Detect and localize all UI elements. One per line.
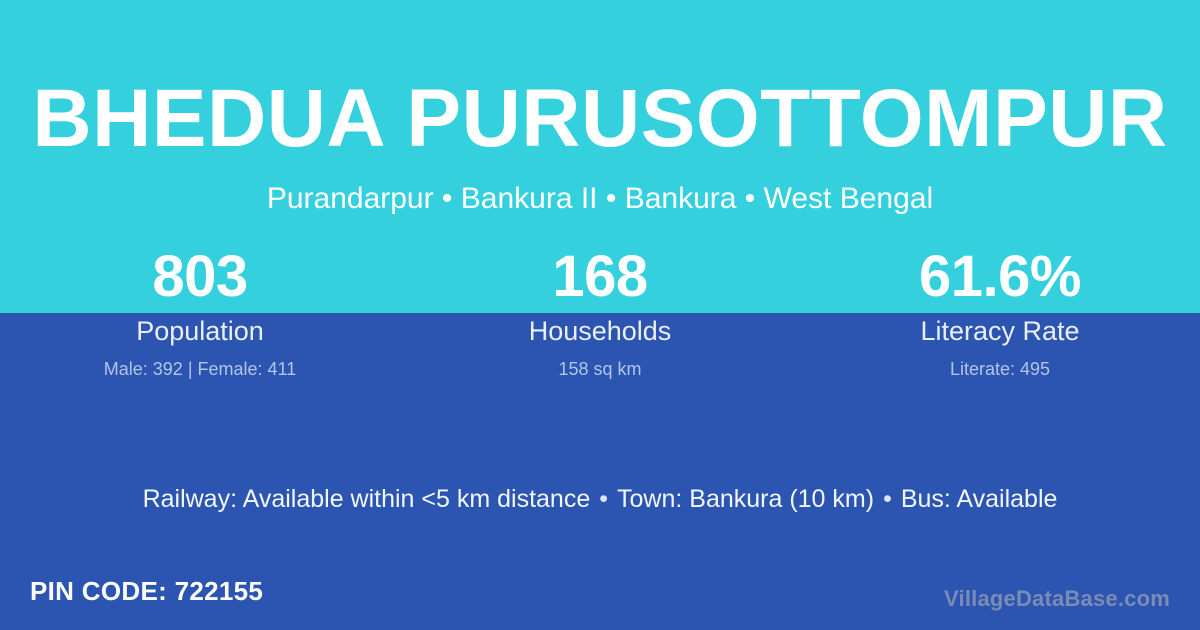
stat-label-literacy-rate: Literacy Rate (800, 314, 1200, 349)
village-info-card: BHEDUA PURUSOTTOMPUR Purandarpur • Banku… (0, 0, 1200, 630)
stat-value-population: 803 (0, 243, 400, 311)
stats-row: 803 Population Male: 392 | Female: 411 1… (0, 243, 1200, 381)
stat-population: 803 Population Male: 392 | Female: 411 (0, 243, 400, 381)
site-branding: VillageDataBase.com (944, 585, 1170, 614)
infrastructure-line: Railway: Available within <5 km distance… (0, 484, 1200, 515)
infra-separator-2: • (874, 484, 901, 515)
stat-label-population: Population (0, 314, 400, 349)
stat-label-households: Households (400, 314, 800, 349)
stat-sub-literacy-rate: Literate: 495 (800, 358, 1200, 381)
stat-literacy-rate: 61.6% Literacy Rate Literate: 495 (800, 243, 1200, 381)
page-title: BHEDUA PURUSOTTOMPUR (0, 78, 1200, 160)
stat-value-households: 168 (400, 243, 800, 311)
stat-households: 168 Households 158 sq km (400, 243, 800, 381)
infra-bus: Bus: Available (901, 485, 1058, 513)
location-breadcrumb: Purandarpur • Bankura II • Bankura • Wes… (0, 181, 1200, 217)
infra-town: Town: Bankura (10 km) (617, 485, 874, 513)
stat-sub-population: Male: 392 | Female: 411 (0, 358, 400, 381)
stat-sub-households: 158 sq km (400, 358, 800, 381)
stat-value-literacy-rate: 61.6% (800, 243, 1200, 311)
infra-separator-1: • (590, 484, 617, 515)
infra-railway: Railway: Available within <5 km distance (143, 485, 591, 513)
pin-code: PIN CODE: 722155 (30, 575, 263, 609)
